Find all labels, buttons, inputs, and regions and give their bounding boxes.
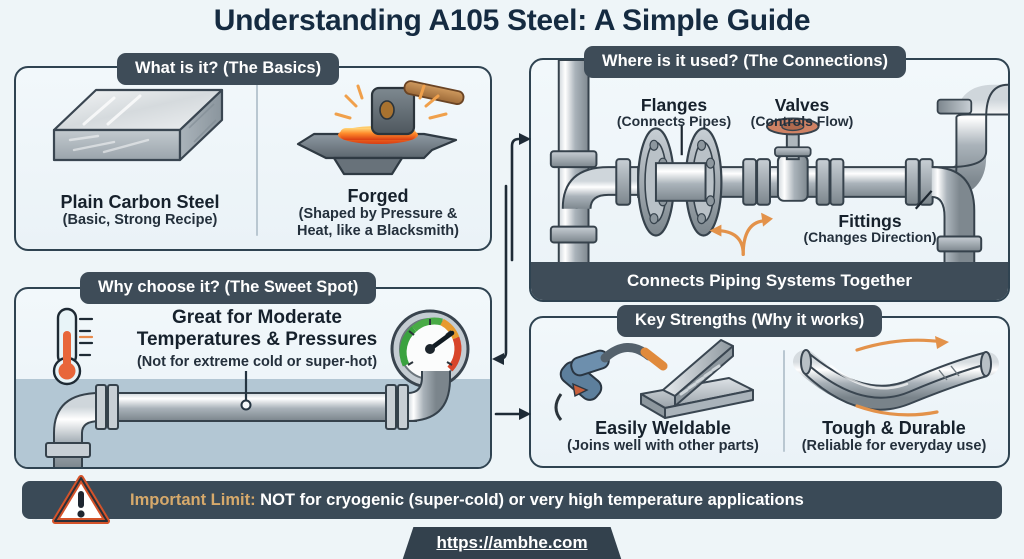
panel-sweet-spot-heading: Why choose it? (The Sweet Spot) <box>80 272 376 304</box>
pipe-run-icon <box>24 371 486 469</box>
sweet-spot-text: Great for Moderate Temperatures & Pressu… <box>112 307 402 370</box>
flange-pair <box>638 128 721 235</box>
panel-basics-heading: What is it? (The Basics) <box>117 53 339 85</box>
label-fittings-subtitle: (Changes Direction) <box>789 230 951 245</box>
warning-lead: Important Limit: <box>130 491 256 509</box>
connections-label-fittings: Fittings (Changes Direction) <box>789 212 951 246</box>
basics-divider <box>256 84 258 236</box>
warning-triangle-icon <box>52 475 110 525</box>
bending-pipe-icon <box>791 336 999 422</box>
basics-item-2-caption: Forged (Shaped by Pressure & Heat, like … <box>266 186 490 240</box>
basics-item-2-subtitle: (Shaped by Pressure & Heat, like a Black… <box>266 206 490 239</box>
footer-url-text[interactable]: https://ambhe.com <box>436 533 587 552</box>
panel-sweet-spot: Great for Moderate Temperatures & Pressu… <box>14 287 492 469</box>
footer-url-pill[interactable]: https://ambhe.com <box>402 527 621 559</box>
basics-item-1-title: Plain Carbon Steel <box>24 192 256 212</box>
hammer-anvil-icon <box>274 78 474 186</box>
connections-label-flanges: Flanges (Connects Pipes) <box>599 96 749 130</box>
steel-block-icon <box>44 84 234 188</box>
connections-label-valves: Valves (Controls Flow) <box>739 96 865 130</box>
panel-connections-heading: Where is it used? (The Connections) <box>584 46 906 78</box>
sweet-spot-line2: Temperatures & Pressures <box>112 329 402 351</box>
arrow-connections-to-sweetspot <box>499 186 506 359</box>
label-flanges-title: Flanges <box>599 96 749 114</box>
infographic-root: Understanding A105 Steel: A Simple Guide <box>0 0 1024 559</box>
arrow-basics-to-connections <box>512 139 524 260</box>
strengths-item-2-caption: Tough & Durable (Reliable for everyday u… <box>785 418 1003 455</box>
label-fittings-title: Fittings <box>789 212 951 230</box>
strengths-item-2-subtitle: (Reliable for everyday use) <box>785 438 1003 455</box>
label-valves-title: Valves <box>739 96 865 114</box>
basics-item-1-caption: Plain Carbon Steel (Basic, Strong Recipe… <box>24 192 256 229</box>
warning-bar: Important Limit: NOT for cryogenic (supe… <box>22 481 1002 519</box>
sweet-spot-line1: Great for Moderate <box>112 307 402 329</box>
connections-footer-banner: Connects Piping Systems Together <box>531 262 1008 300</box>
strengths-item-1-title: Easily Weldable <box>543 418 783 438</box>
strengths-item-2-title: Tough & Durable <box>785 418 1003 438</box>
basics-item-2-title: Forged <box>266 186 490 206</box>
label-flanges-subtitle: (Connects Pipes) <box>599 114 749 129</box>
label-valves-subtitle: (Controls Flow) <box>739 114 865 129</box>
warning-body: NOT for cryogenic (super-cold) or very h… <box>256 491 804 509</box>
panel-connections: Flanges (Connects Pipes) Valves (Control… <box>529 58 1010 302</box>
sweet-spot-line3: (Not for extreme cold or super-hot) <box>112 354 402 370</box>
panel-basics: Plain Carbon Steel (Basic, Strong Recipe… <box>14 66 492 251</box>
basics-item-1-subtitle: (Basic, Strong Recipe) <box>24 212 256 229</box>
strengths-item-1-subtitle: (Joins well with other parts) <box>543 438 783 455</box>
strengths-item-1-caption: Easily Weldable (Joins well with other p… <box>543 418 783 455</box>
page-title: Understanding A105 Steel: A Simple Guide <box>0 4 1024 38</box>
panel-strengths-heading: Key Strengths (Why it works) <box>617 305 882 337</box>
panel-strengths: Easily Weldable (Joins well with other p… <box>529 316 1010 468</box>
welding-torch-icon <box>545 332 755 424</box>
warning-text: Important Limit: NOT for cryogenic (supe… <box>130 491 804 510</box>
